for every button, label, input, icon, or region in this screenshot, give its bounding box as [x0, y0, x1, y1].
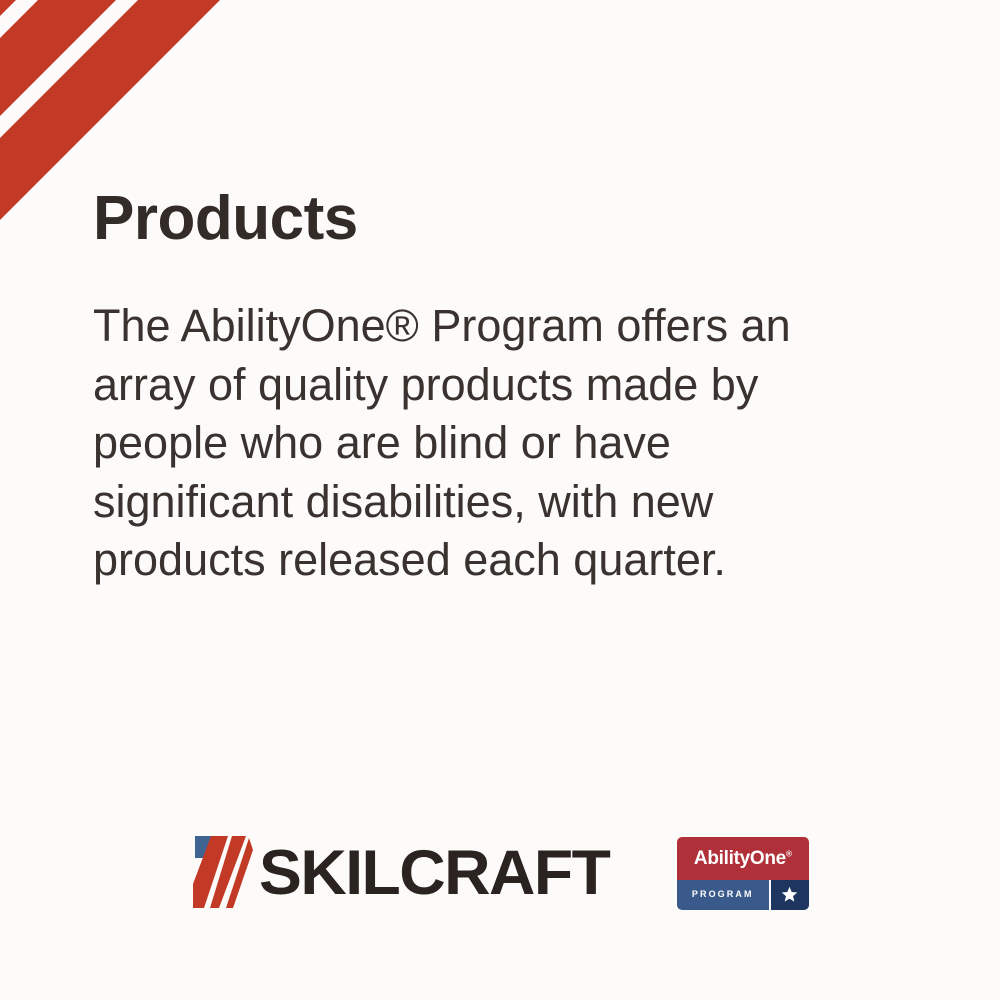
abilityone-star-box	[769, 880, 809, 909]
abilityone-program-label: PROGRAM	[692, 890, 754, 899]
registered-trademark-icon: ®	[786, 850, 792, 859]
skilcraft-logo: SKILCRAFT	[191, 833, 602, 913]
abilityone-name: AbilityOne®	[694, 849, 792, 868]
five-point-star-icon	[781, 886, 798, 903]
abilityone-red-band: AbilityOne®	[677, 837, 809, 881]
product-info-card: Products The AbilityOne® Program offers …	[0, 0, 1000, 1000]
skilcraft-diagonal-stripe-mark-icon	[191, 834, 253, 912]
flag-blue-field	[0, 0, 62, 62]
body-paragraph: The AbilityOne® Program offers an array …	[93, 297, 833, 590]
abilityone-program-logo: AbilityOne® PROGRAM	[677, 837, 809, 910]
page-title: Products	[93, 186, 873, 251]
abilityone-blue-band: PROGRAM	[677, 880, 809, 909]
flag-red-stripe-1	[0, 0, 86, 86]
flag-red-stripe-2	[0, 0, 186, 186]
footer-logo-lockup: SKILCRAFT AbilityOne® PROGRAM	[0, 818, 1000, 928]
card-content: Products The AbilityOne® Program offers …	[93, 186, 873, 590]
skilcraft-wordmark: SKILCRAFT	[259, 842, 609, 905]
abilityone-program-band: PROGRAM	[677, 880, 769, 909]
